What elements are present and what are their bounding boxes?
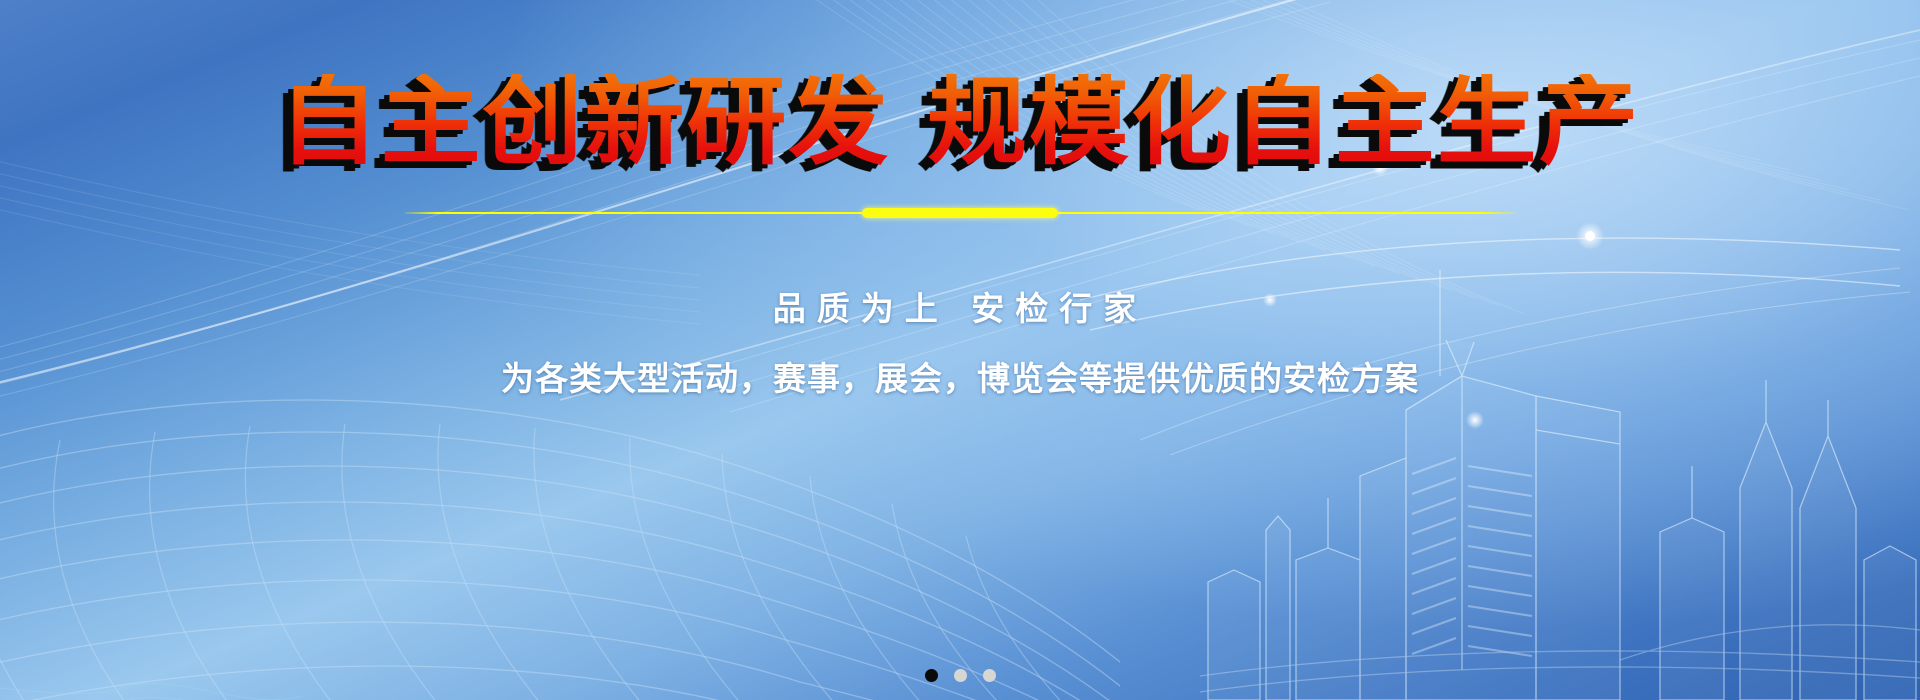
banner-content: 自主创新研发 规模化自主生产 品质为上 安检行家 为各类大型活动，赛事，展会，博… [0,0,1920,700]
banner-subtitle-primary: 品质为上 安检行家 [773,282,1148,330]
carousel-dot-3[interactable] [983,669,996,682]
carousel-indicators [0,669,1920,682]
carousel-dot-2[interactable] [954,669,967,682]
banner-headline: 自主创新研发 规模化自主生产 [279,74,1641,170]
banner-subtitle-secondary: 为各类大型活动，赛事，展会，博览会等提供优质的安检方案 [501,352,1419,400]
hero-banner-slide[interactable]: 自主创新研发 规模化自主生产 品质为上 安检行家 为各类大型活动，赛事，展会，博… [0,0,1920,700]
decorative-divider [405,206,1515,220]
divider-center-bar [862,208,1058,218]
carousel-dot-1[interactable] [925,669,938,682]
